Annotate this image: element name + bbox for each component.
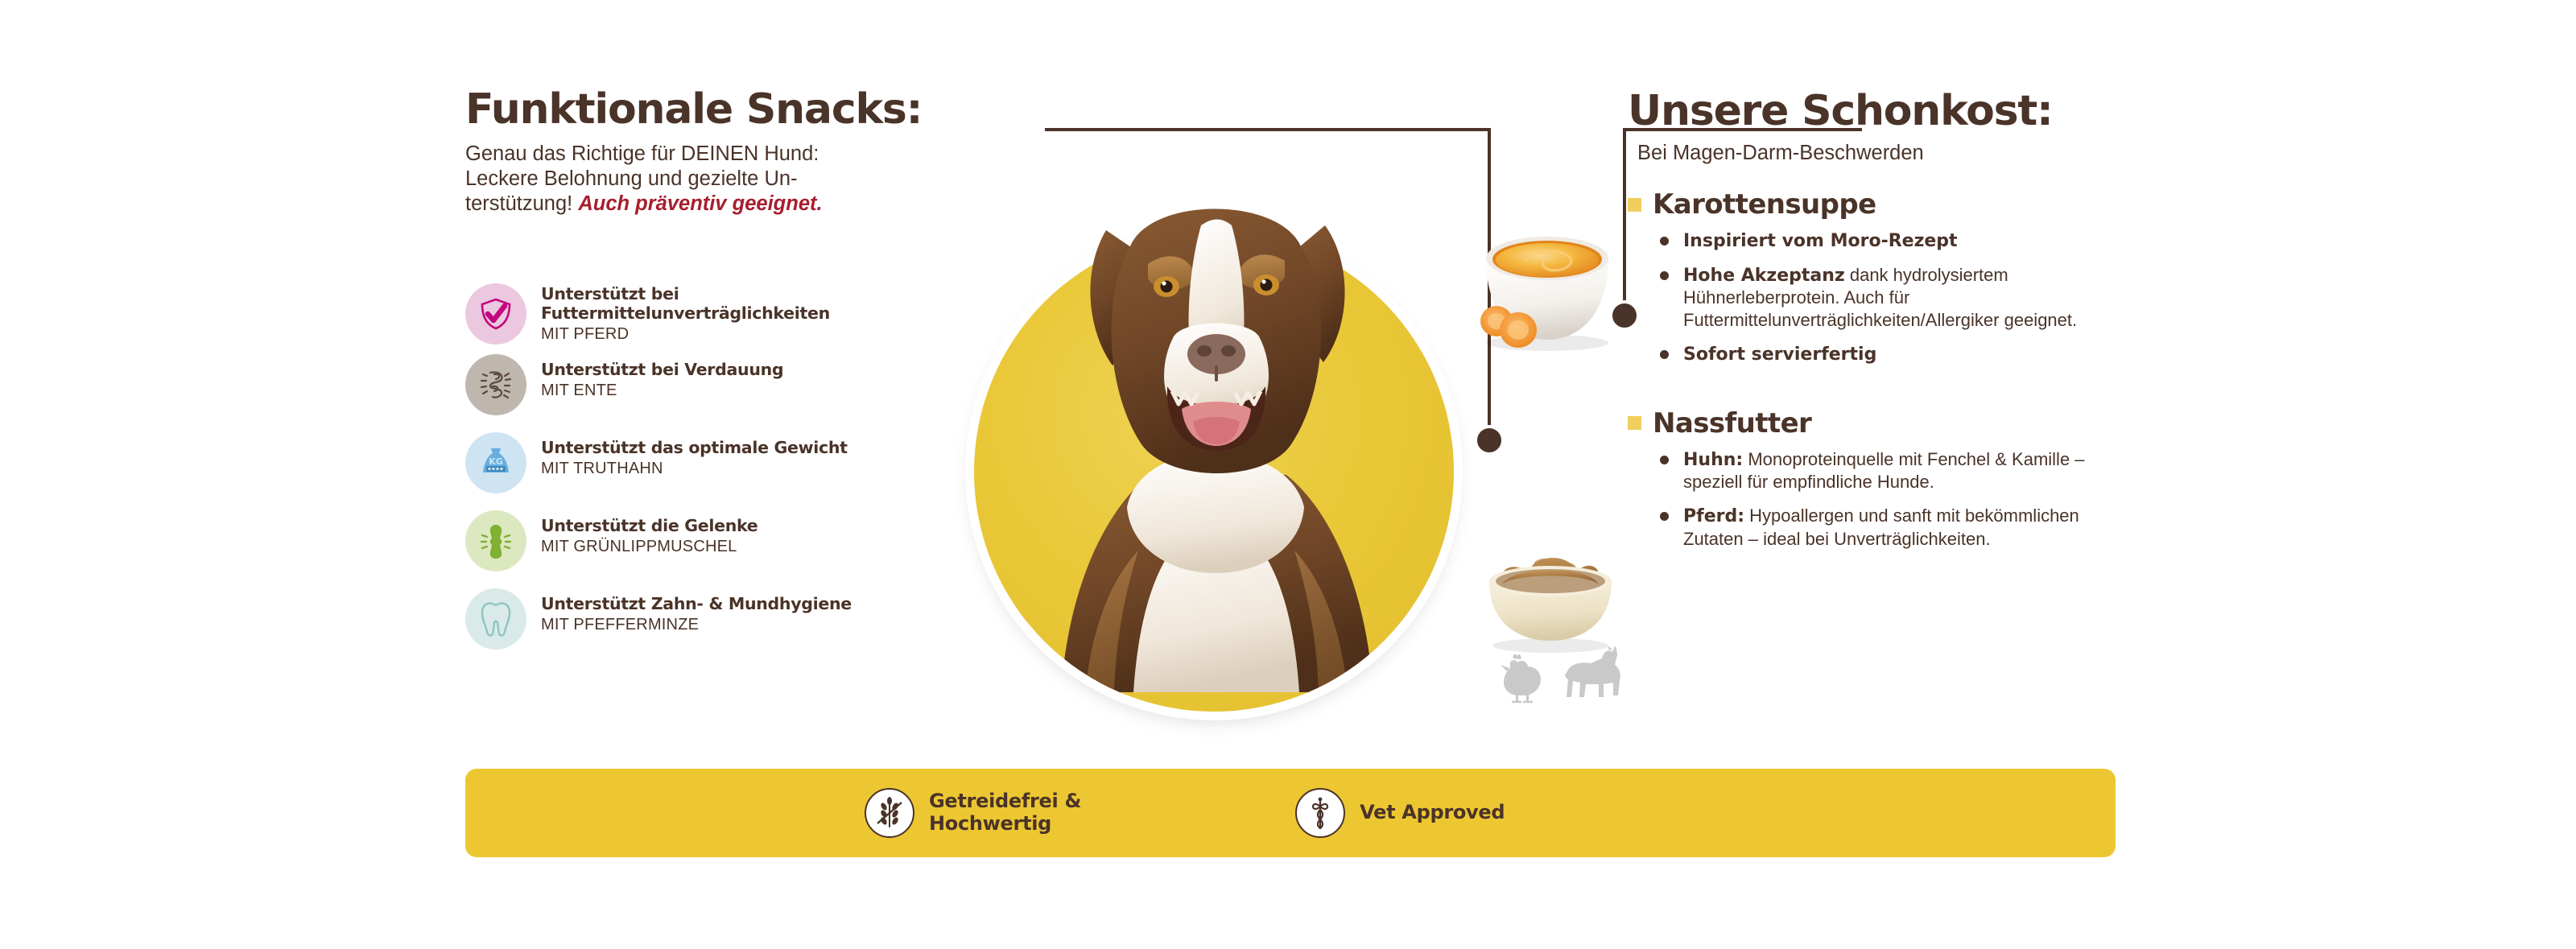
feature-subtitle: MIT PFEFFERMINZE (541, 615, 852, 635)
weight-scale-kg-icon: KG (465, 432, 526, 493)
section-title: Karottensuppe (1653, 191, 1876, 218)
wet-food-bowl-photo (1470, 531, 1631, 660)
right-column: Unsere Schonkost: Bei Magen-Darm-Beschwe… (1628, 90, 2143, 561)
list-item: Inspiriert vom Moro-Rezept (1660, 229, 2143, 253)
lead-line-1: Genau das Richtige für DEINEN Hund: (465, 142, 819, 165)
list-item: Huhn: Monoproteinquelle mit Fenchel & Ka… (1660, 448, 2143, 493)
page-title-funktionale-snacks: Funktionale Snacks: (465, 89, 876, 130)
badge-vet-approved: Vet Approved (1295, 788, 1505, 838)
feature-list: Unterstützt bei Futtermittelunverträglic… (465, 283, 884, 666)
subtitle-magen-darm: Bei Magen-Darm-Beschwerden (1637, 142, 2143, 165)
badge-label-line2: Hochwertig (929, 812, 1051, 835)
dot-bullet-icon (1660, 237, 1669, 246)
feature-subtitle: MIT ENTE (541, 381, 783, 401)
animal-silhouettes (1483, 644, 1632, 708)
list-item-text: Hohe Akzeptanz dank hydrolysiertem Hühne… (1683, 264, 2122, 332)
list-item-bold: Sofort servierfertig (1683, 345, 1876, 365)
badge-label-line1: Getreidefrei & (929, 790, 1081, 812)
list-item-bold: Huhn: (1683, 450, 1743, 470)
dot-bullet-icon (1660, 271, 1669, 280)
left-column: Funktionale Snacks: Genau das Richtige f… (465, 89, 876, 217)
feature-title: Unterstützt Zahn- & Mundhygiene (541, 595, 852, 614)
tooth-icon (465, 588, 526, 650)
section-header-karottensuppe: Karottensuppe (1628, 191, 2143, 218)
feature-title: Unterstützt die Gelenke (541, 517, 758, 536)
feature-text: Unterstützt das optimale Gewicht MIT TRU… (541, 432, 848, 479)
intestine-icon (465, 354, 526, 415)
left-lead-text: Genau das Richtige für DEINEN Hund: Leck… (465, 142, 868, 217)
badge-label: Vet Approved (1360, 802, 1505, 824)
horse-silhouette (1565, 646, 1620, 697)
feature-item-zahnhygiene: Unterstützt Zahn- & Mundhygiene MIT PFEF… (465, 588, 884, 650)
badge-getreidefrei: Getreidefrei & Hochwertig (865, 788, 1081, 838)
feature-text: Unterstützt die Gelenke MIT GRÜNLIPPMUSC… (541, 510, 758, 557)
list-item: Sofort servierfertig (1660, 343, 2143, 366)
feature-subtitle: MIT TRUTHAHN (541, 459, 848, 479)
infographic-canvas: Funktionale Snacks: Genau das Richtige f… (0, 0, 2576, 949)
caduceus-vet-icon (1295, 788, 1345, 838)
callout-dot-left (1476, 427, 1503, 454)
badge-label: Getreidefrei & Hochwertig (929, 790, 1081, 835)
list-item: Pferd: Hypoallergen und sanft mit bekömm… (1660, 505, 2143, 550)
chicken-silhouette (1501, 654, 1541, 702)
feature-title: Unterstützt bei Futtermittelunverträglic… (541, 285, 830, 324)
bottom-trust-banner: Getreidefrei & Hochwertig Vet Approved (465, 769, 2116, 857)
list-item-text: Sofort servierfertig (1683, 343, 1876, 366)
dot-bullet-icon (1660, 512, 1669, 521)
dot-bullet-icon (1660, 350, 1669, 359)
list-item-text: Inspiriert vom Moro-Rezept (1683, 229, 1958, 253)
lead-line-3: terstützung! (465, 192, 572, 215)
feature-text: Unterstützt bei Futtermittelunverträglic… (541, 283, 830, 345)
feature-title-line2: Futtermittelunverträglichkeiten (541, 303, 830, 323)
list-item-bold: Hohe Akzeptanz (1683, 266, 1845, 286)
bullet-list-nassfutter: Huhn: Monoproteinquelle mit Fenchel & Ka… (1660, 448, 2143, 551)
page-title-unsere-schonkost: Unsere Schonkost: (1628, 90, 2143, 132)
section-title: Nassfutter (1653, 410, 1811, 437)
feature-title: Unterstützt bei Verdauung (541, 361, 783, 380)
callout-line-left (1045, 130, 1489, 439)
feature-subtitle: MIT GRÜNLIPPMUSCHEL (541, 537, 758, 557)
feature-text: Unterstützt Zahn- & Mundhygiene MIT PFEF… (541, 588, 852, 635)
list-item-text: Pferd: Hypoallergen und sanft mit bekömm… (1683, 505, 2122, 550)
section-header-nassfutter: Nassfutter (1628, 410, 2143, 437)
weight-icon-kg-label: KG (489, 456, 503, 467)
carrot-soup-bowl-photo (1457, 208, 1630, 357)
dog-hero-illustration (940, 129, 1455, 692)
lead-line-2: Leckere Belohnung und gezielte Un- (465, 167, 798, 190)
feature-title: Unterstützt das optimale Gewicht (541, 439, 848, 458)
joint-bone-icon (465, 510, 526, 571)
shield-check-icon (465, 283, 526, 345)
feature-item-futtermittelunvertraeglichkeiten: Unterstützt bei Futtermittelunverträglic… (465, 283, 884, 345)
dot-bullet-icon (1660, 456, 1669, 464)
list-item: Hohe Akzeptanz dank hydrolysiertem Hühne… (1660, 264, 2143, 332)
square-bullet-icon (1628, 198, 1641, 212)
feature-text: Unterstützt bei Verdauung MIT ENTE (541, 354, 783, 401)
feature-item-gelenke: Unterstützt die Gelenke MIT GRÜNLIPPMUSC… (465, 510, 884, 571)
list-item-rest: Monoproteinquelle mit Fenchel & Kamille … (1683, 449, 2085, 493)
feature-item-verdauung: Unterstützt bei Verdauung MIT ENTE (465, 354, 884, 415)
feature-subtitle: MIT PFERD (541, 324, 830, 345)
lead-accent-text: Auch präventiv geeignet. (578, 192, 822, 215)
wheat-grain-free-icon (865, 788, 914, 838)
square-bullet-icon (1628, 416, 1641, 430)
feature-item-gewicht: KG Unterstützt das optimale Gewicht MIT … (465, 432, 884, 493)
list-item-text: Huhn: Monoproteinquelle mit Fenchel & Ka… (1683, 448, 2122, 493)
bullet-list-karottensuppe: Inspiriert vom Moro-Rezept Hohe Akzeptan… (1660, 229, 2143, 366)
list-item-bold: Pferd: (1683, 506, 1744, 526)
feature-title-line1: Unterstützt bei (541, 284, 679, 303)
list-item-bold: Inspiriert vom Moro-Rezept (1683, 231, 1958, 251)
